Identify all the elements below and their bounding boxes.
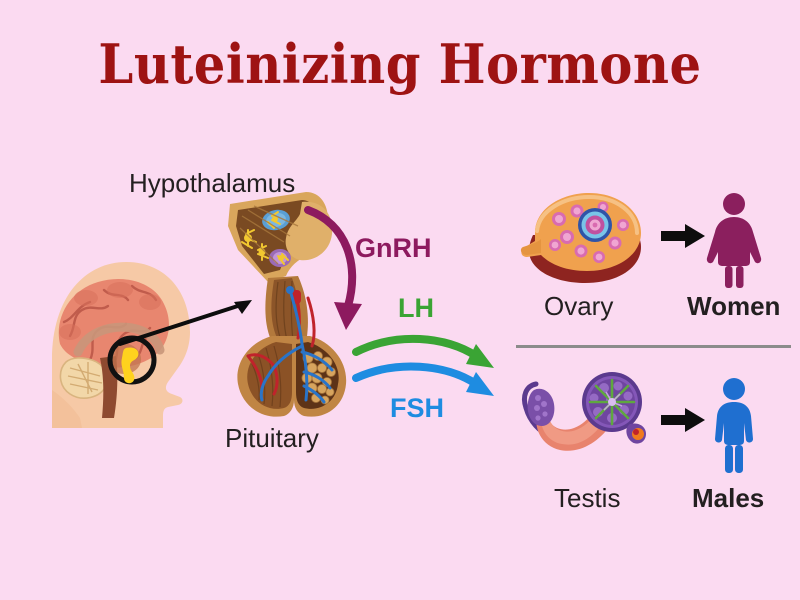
label-fsh: FSH	[390, 395, 444, 422]
male-figure-icon	[706, 377, 762, 473]
label-hypothalamus: Hypothalamus	[129, 170, 295, 196]
label-males: Males	[692, 485, 764, 511]
female-figure-icon	[704, 192, 764, 288]
diagram-canvas: Luteinizing Hormone	[0, 0, 800, 600]
testis-icon	[518, 370, 658, 470]
label-women: Women	[687, 293, 780, 319]
gnrh-curved-arrow-icon	[300, 198, 380, 343]
label-ovary: Ovary	[544, 293, 613, 319]
ovary-icon	[515, 185, 650, 295]
section-divider	[516, 345, 791, 348]
label-gnrh: GnRH	[355, 235, 432, 262]
label-testis: Testis	[554, 485, 620, 511]
label-lh: LH	[398, 295, 434, 322]
males-black-arrow-icon	[661, 407, 707, 433]
label-pituitary: Pituitary	[225, 425, 319, 451]
page-title: Luteinizing Hormone	[32, 32, 768, 96]
women-black-arrow-icon	[661, 223, 707, 249]
